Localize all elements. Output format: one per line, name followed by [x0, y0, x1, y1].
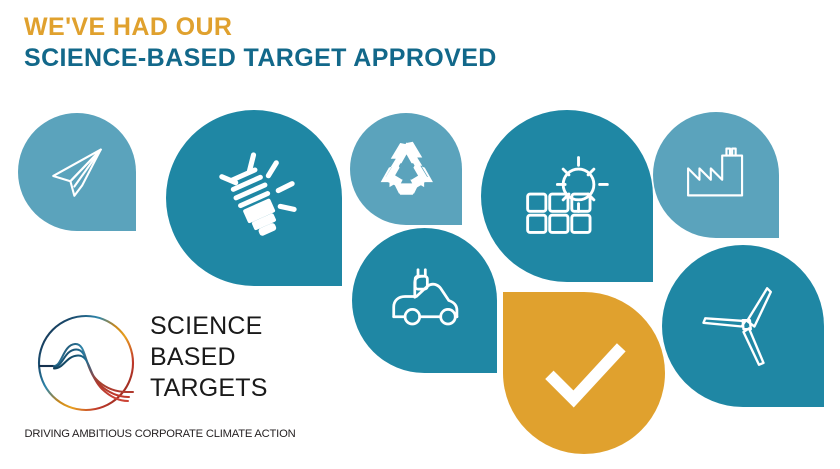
sbt-tagline: DRIVING AMBITIOUS CORPORATE CLIMATE ACTI…	[22, 428, 298, 440]
blob-electric-car	[352, 228, 497, 373]
sbt-wordmark-line-3: TARGETS	[150, 373, 300, 404]
blob-wind-turbine	[662, 245, 824, 407]
sbt-wordmark: SCIENCE BASED TARGETS	[150, 311, 300, 403]
checkmark-icon	[503, 292, 665, 454]
headline-line-1: WE'VE HAD OUR	[24, 12, 664, 43]
blob-lightbulb	[166, 110, 342, 286]
science-based-targets-logo: SCIENCE BASED TARGETS DRIVING AMBITIOUS …	[18, 305, 298, 455]
sbt-wordmark-line-1: SCIENCE	[150, 311, 300, 342]
blob-recycle	[350, 113, 462, 225]
lightbulb-icon	[166, 110, 342, 286]
page-title: WE'VE HAD OUR SCIENCE-BASED TARGET APPRO…	[24, 12, 664, 73]
poster-canvas: WE'VE HAD OUR SCIENCE-BASED TARGET APPRO…	[0, 0, 840, 469]
blob-checkmark	[503, 292, 665, 454]
sbt-wordmark-line-2: BASED	[150, 342, 300, 373]
blob-factory	[653, 112, 779, 238]
factory-icon	[653, 112, 779, 238]
blob-paper-plane	[18, 113, 136, 231]
paper-plane-icon	[18, 113, 136, 231]
wind-turbine-icon	[662, 245, 824, 407]
sbt-circle-mark-icon	[32, 309, 140, 417]
electric-car-icon	[352, 228, 497, 373]
recycle-icon	[350, 113, 462, 225]
headline-line-2: SCIENCE-BASED TARGET APPROVED	[24, 43, 664, 74]
blob-solar-panel	[481, 110, 653, 282]
solar-panel-icon	[481, 110, 653, 282]
